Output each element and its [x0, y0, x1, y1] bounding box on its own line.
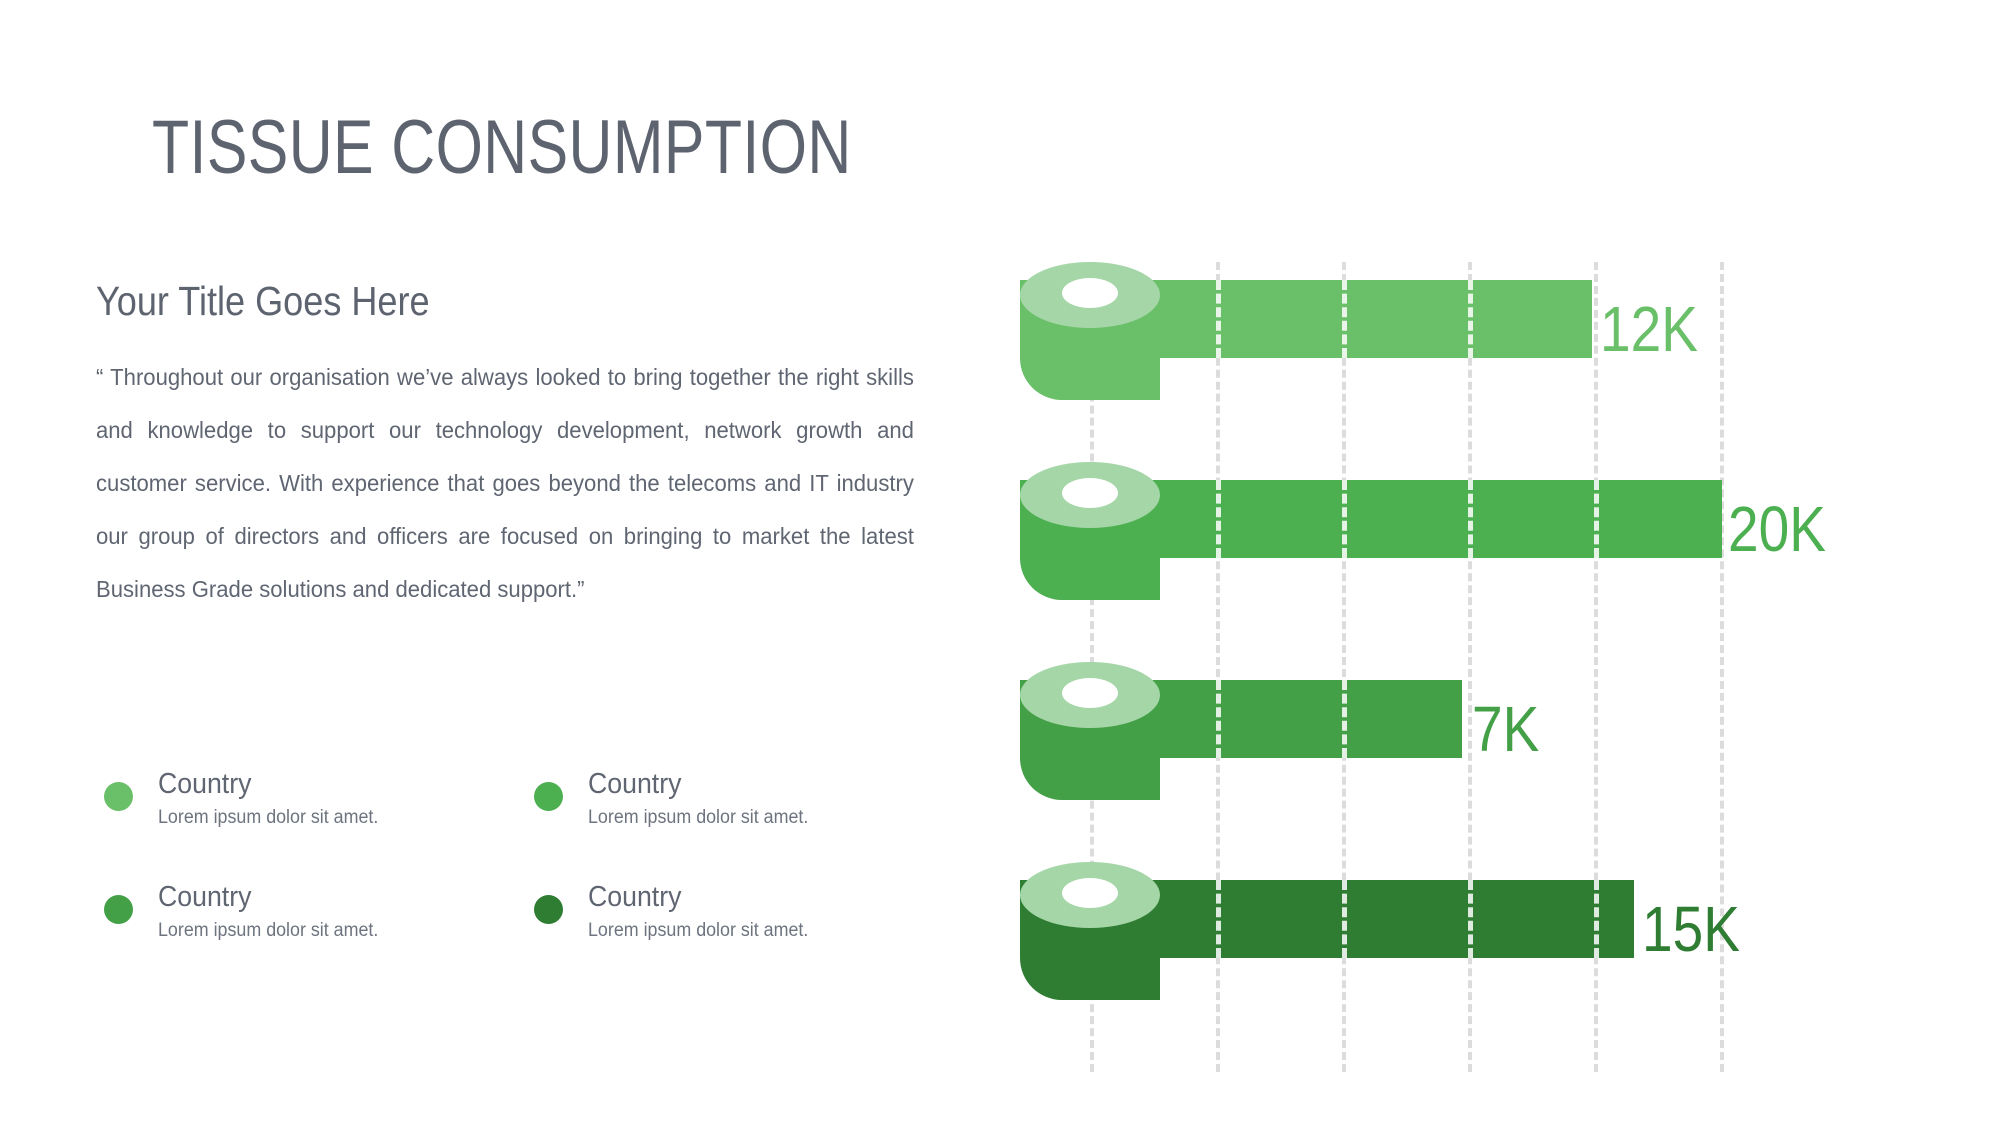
perforation-line — [1216, 280, 1221, 358]
legend-item-name: Country — [158, 881, 497, 914]
tissue-roll-hole — [1062, 678, 1118, 708]
perforation-line — [1594, 480, 1599, 558]
legend: Country Lorem ipsum dolor sit amet. Coun… — [96, 768, 976, 942]
section-heading: Your Title Goes Here — [96, 278, 853, 325]
tissue-roll-top — [1020, 862, 1160, 928]
body-paragraph: “ Throughout our organisation we’ve alwa… — [96, 351, 914, 616]
legend-dot-icon — [104, 782, 133, 811]
tissue-roll-top — [1020, 262, 1160, 328]
perforation-line — [1468, 880, 1473, 958]
legend-item[interactable]: Country Lorem ipsum dolor sit amet. — [526, 881, 956, 942]
tissue-roll-bar-chart: 12K 20K — [1020, 262, 1960, 1062]
legend-item-desc: Lorem ipsum dolor sit amet. — [588, 807, 934, 829]
legend-item[interactable]: Country Lorem ipsum dolor sit amet. — [96, 881, 526, 942]
tissue-roll-top — [1020, 662, 1160, 728]
legend-item-desc: Lorem ipsum dolor sit amet. — [158, 807, 504, 829]
perforation-line — [1216, 480, 1221, 558]
perforation-line — [1468, 480, 1473, 558]
bar-value-label: 20K — [1728, 492, 1826, 566]
bar-value-label: 7K — [1472, 692, 1539, 766]
legend-dot-icon — [534, 782, 563, 811]
bar-row[interactable]: 15K — [1020, 862, 1960, 1012]
tissue-sheet — [1082, 880, 1634, 958]
left-content-column: Your Title Goes Here “ Throughout our or… — [96, 278, 956, 616]
bar-value-label: 15K — [1642, 892, 1740, 966]
legend-dot-icon — [534, 895, 563, 924]
legend-item-name: Country — [158, 768, 497, 801]
legend-item[interactable]: Country Lorem ipsum dolor sit amet. — [526, 768, 956, 829]
tissue-roll-hole — [1062, 478, 1118, 508]
legend-dot-icon — [104, 895, 133, 924]
perforation-line — [1216, 680, 1221, 758]
perforation-line — [1342, 880, 1347, 958]
tissue-roll-hole — [1062, 278, 1118, 308]
slide-canvas: TISSUE CONSUMPTION Your Title Goes Here … — [0, 0, 2000, 1125]
tissue-sheet — [1082, 480, 1722, 558]
perforation-line — [1594, 880, 1599, 958]
perforation-line — [1342, 280, 1347, 358]
bar-row[interactable]: 20K — [1020, 462, 1960, 612]
legend-item-name: Country — [588, 881, 927, 914]
tissue-roll-top — [1020, 462, 1160, 528]
bar-row[interactable]: 12K — [1020, 262, 1960, 412]
perforation-line — [1468, 280, 1473, 358]
bar-row[interactable]: 7K — [1020, 662, 1960, 812]
perforation-line — [1216, 880, 1221, 958]
legend-item-desc: Lorem ipsum dolor sit amet. — [158, 920, 504, 942]
perforation-line — [1342, 480, 1347, 558]
bar-value-label: 12K — [1600, 292, 1698, 366]
legend-item[interactable]: Country Lorem ipsum dolor sit amet. — [96, 768, 526, 829]
legend-item-name: Country — [588, 768, 927, 801]
perforation-line — [1342, 680, 1347, 758]
page-title: TISSUE CONSUMPTION — [152, 104, 852, 191]
tissue-roll-hole — [1062, 878, 1118, 908]
legend-item-desc: Lorem ipsum dolor sit amet. — [588, 920, 934, 942]
